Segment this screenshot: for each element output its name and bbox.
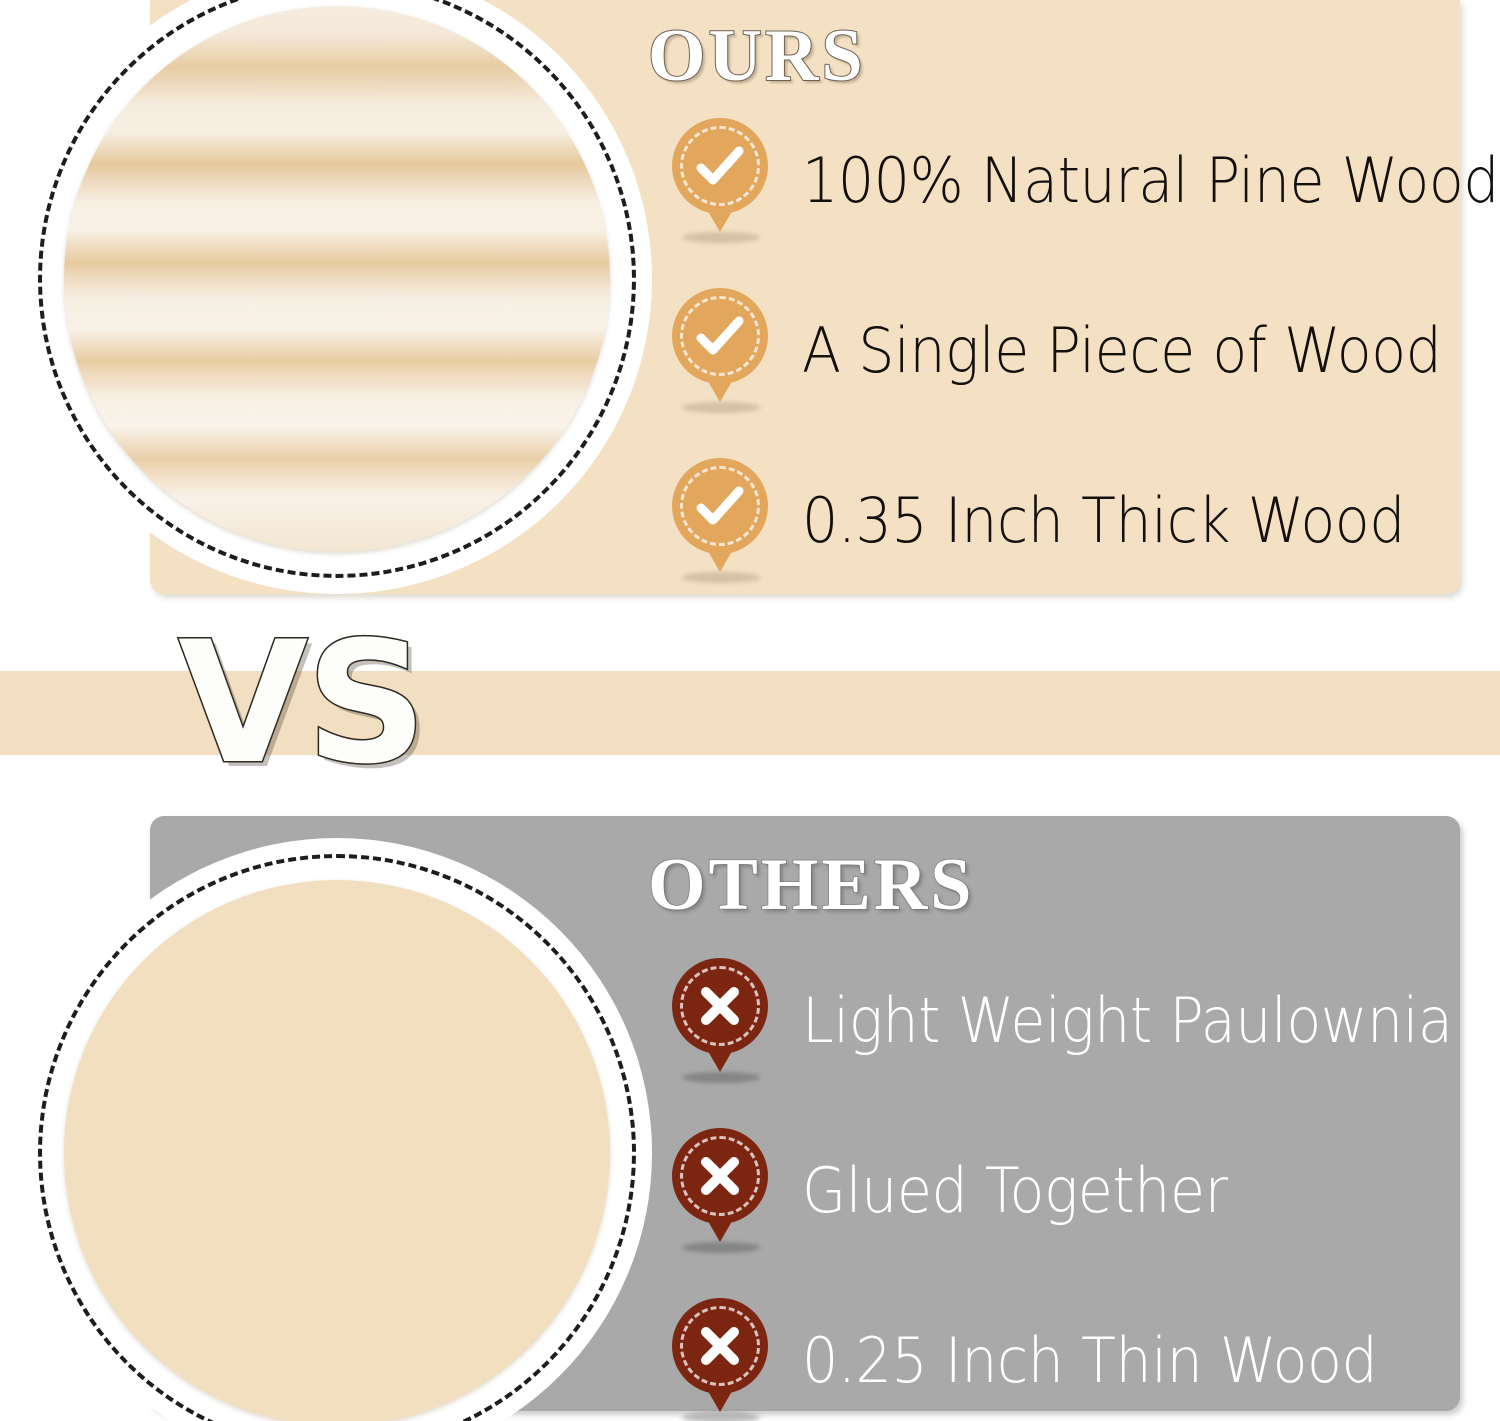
check-icon (672, 288, 768, 384)
feature-label: 100% Natural Pine Wood (802, 149, 1499, 213)
check-badge (668, 288, 772, 414)
vs-label: VS (178, 619, 425, 787)
cross-badge (668, 1298, 772, 1421)
check-badge (668, 118, 772, 244)
comparison-infographic: VS OURS 100% Natural Pine Wood (0, 0, 1500, 1421)
list-item: 100% Natural Pine Wood (668, 118, 1500, 244)
ours-heading: OURS (648, 14, 866, 99)
badge-dashed-ring (680, 1136, 760, 1216)
badge-shadow (682, 1072, 760, 1083)
cross-icon (672, 1128, 768, 1224)
badge-shadow (682, 232, 760, 243)
badge-shadow (682, 1412, 760, 1421)
list-item: 0.35 Inch Thick Wood (668, 458, 1500, 584)
list-item: Glued Together (668, 1128, 1500, 1254)
list-item: A Single Piece of Wood (668, 288, 1500, 414)
cross-badge (668, 958, 772, 1084)
others-feature-list: Light Weight Paulownia Glued Together (668, 958, 1500, 1421)
cross-icon (672, 1298, 768, 1394)
badge-shadow (682, 1242, 760, 1253)
badge-dashed-ring (680, 126, 760, 206)
badge-dashed-ring (680, 296, 760, 376)
feature-label: 0.25 Inch Thin Wood (802, 1329, 1377, 1393)
list-item: 0.25 Inch Thin Wood (668, 1298, 1500, 1421)
badge-dashed-ring (680, 466, 760, 546)
paulownia-wood-texture (64, 880, 610, 1421)
feature-label: A Single Piece of Wood (802, 319, 1441, 383)
badge-dashed-ring (680, 966, 760, 1046)
ours-feature-list: 100% Natural Pine Wood A Single Piece of… (668, 118, 1500, 628)
feature-label: Light Weight Paulownia (802, 989, 1453, 1053)
cross-icon (672, 958, 768, 1054)
list-item: Light Weight Paulownia (668, 958, 1500, 1084)
badge-dashed-ring (680, 1306, 760, 1386)
feature-label: Glued Together (802, 1159, 1228, 1223)
check-badge (668, 458, 772, 584)
badge-shadow (682, 402, 760, 413)
check-icon (672, 458, 768, 554)
pine-wood-texture (64, 6, 610, 552)
cross-badge (668, 1128, 772, 1254)
others-heading: OTHERS (648, 843, 974, 928)
badge-shadow (682, 572, 760, 583)
feature-label: 0.35 Inch Thick Wood (802, 489, 1405, 553)
check-icon (672, 118, 768, 214)
